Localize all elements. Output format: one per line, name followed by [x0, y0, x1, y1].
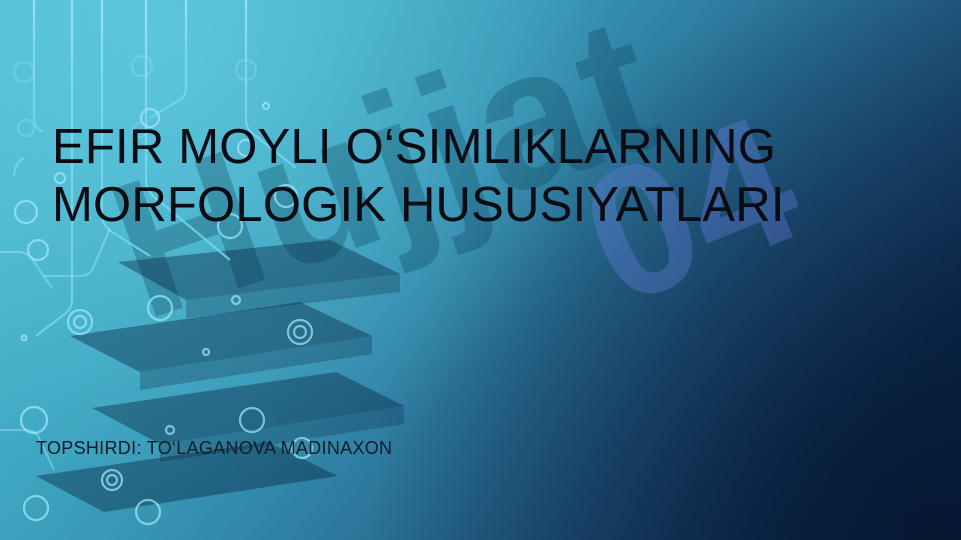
presentation-slide: Hujjat 04	[0, 0, 961, 540]
slide-title: EFIR MOYLI O‘SIMLIKLARNING MORFOLOGIK HU…	[52, 118, 882, 234]
slide-subtitle: TOPSHIRDI: TO‘LAGANOVA MADINAXON	[36, 436, 636, 460]
